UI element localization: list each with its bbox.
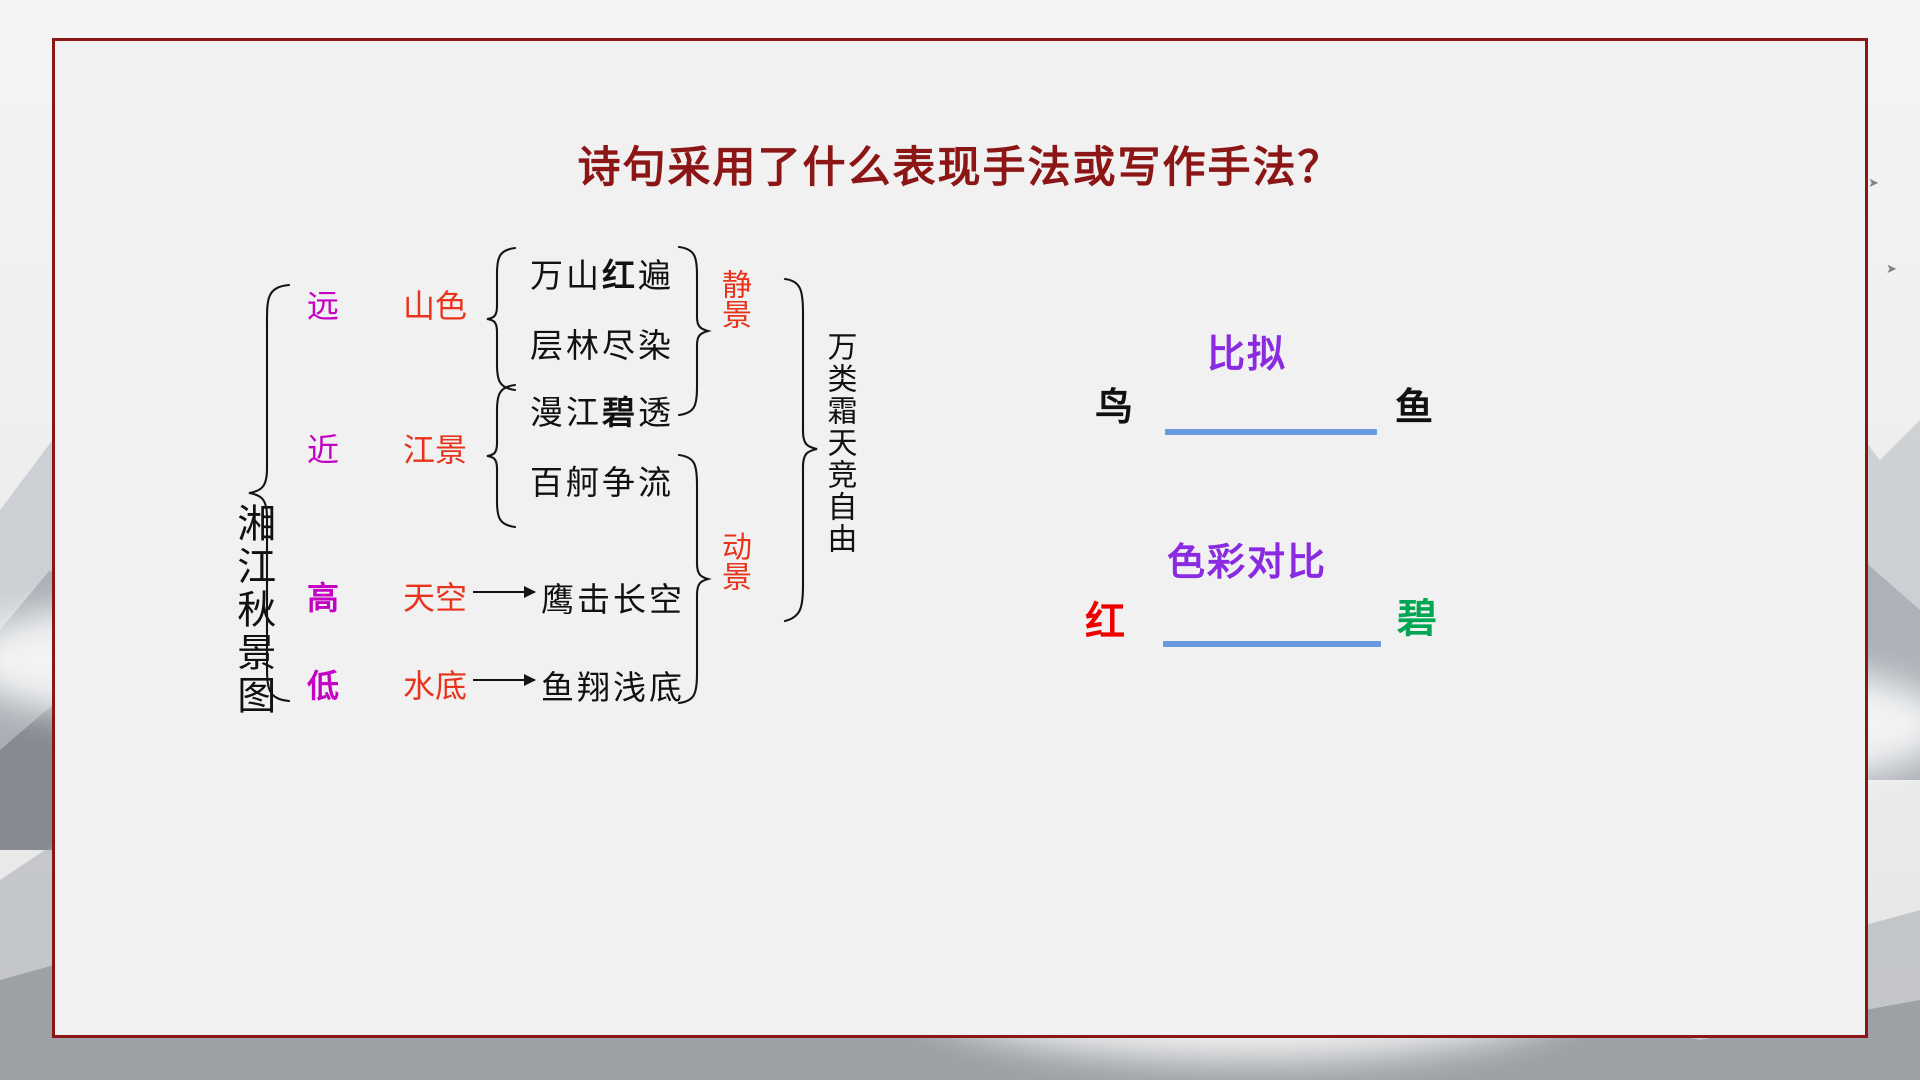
poem-line-4: 鹰击长空 [541, 573, 685, 621]
device-contrast-title: 色彩对比 [1167, 531, 1327, 586]
subject-item-2: 天空 [403, 573, 467, 619]
brace-static-scene [675, 245, 711, 417]
brace-mountain-group [485, 246, 519, 392]
bird-icon-1: ➤ [1868, 176, 1879, 189]
root-brace [245, 281, 295, 701]
device-contrast-line [1163, 641, 1381, 647]
device-comparison-title: 比拟 [1207, 323, 1287, 378]
page-title: 诗句采用了什么表现手法或写作手法？ [55, 133, 1865, 195]
poem-line-1: 层林尽染 [530, 319, 674, 367]
subject-label-1: 江景 [403, 432, 467, 468]
subject-label-3: 水底 [403, 668, 467, 704]
perspective-item-3: 低 [307, 661, 339, 707]
diagram-summary: 万类霜天竞自由 [823, 331, 855, 555]
perspective-item-2: 高 [307, 573, 339, 619]
poem-line-2-post: 透 [638, 396, 674, 432]
poem-line-2: 漫江碧透 [530, 386, 674, 434]
device-contrast-right: 碧 [1397, 586, 1437, 644]
perspective-label-2: 高 [307, 580, 339, 616]
poem-line-5-pre: 鱼翔浅底 [541, 671, 685, 707]
brace-dynamic-scene [675, 453, 711, 705]
brace-summary [781, 277, 821, 625]
subject-item-1: 江景 [403, 425, 467, 471]
subject-item-0: 山色 [403, 281, 467, 327]
poem-line-0-pre: 万山 [530, 259, 602, 295]
poem-line-3: 百舸争流 [530, 456, 674, 504]
slide-frame: 诗句采用了什么表现手法或写作手法？ 湘江秋景图 远 近 高 低 山色 江景 天空… [52, 38, 1868, 1038]
device-comparison-line [1165, 429, 1377, 435]
poem-line-4-pre: 鹰击长空 [541, 583, 685, 619]
poem-line-0: 万山红遍 [530, 249, 674, 297]
perspective-label-1: 近 [307, 432, 339, 468]
perspective-item-0: 远 [307, 281, 339, 327]
scene-group-label-0: 静景 [717, 269, 750, 329]
bird-icon-3: ➤ [1886, 262, 1897, 275]
perspective-label-0: 远 [307, 288, 339, 324]
poem-line-1-pre: 层林尽染 [530, 329, 674, 365]
scene-group-label-1: 动景 [717, 531, 750, 591]
subject-label-2: 天空 [403, 580, 467, 616]
perspective-item-1: 近 [307, 425, 339, 471]
poem-line-0-post: 遍 [638, 259, 674, 295]
poem-line-3-pre: 百舸争流 [530, 466, 674, 502]
poem-line-2-highlight: 碧 [602, 396, 638, 432]
device-contrast-left: 红 [1085, 589, 1125, 647]
arrow-water-to-line [473, 679, 535, 681]
device-comparison-left: 鸟 [1095, 376, 1133, 431]
arrow-sky-to-line [473, 591, 535, 593]
poem-line-0-highlight: 红 [602, 259, 638, 295]
subject-label-0: 山色 [403, 288, 467, 324]
poem-line-5: 鱼翔浅底 [541, 661, 685, 709]
perspective-label-3: 低 [307, 668, 339, 704]
device-comparison-right: 鱼 [1395, 376, 1433, 431]
subject-item-3: 水底 [403, 661, 467, 707]
poem-line-2-pre: 漫江 [530, 396, 602, 432]
brace-river-group [485, 383, 519, 529]
